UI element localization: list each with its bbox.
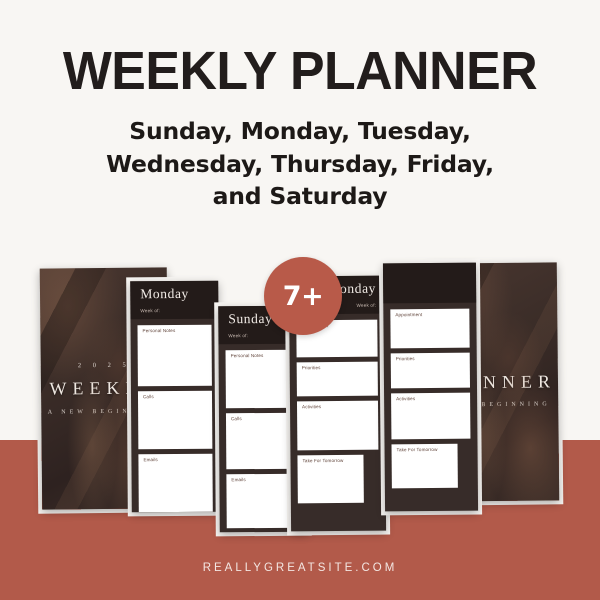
page-body-monday-2: Appointment Priorities Activities Take F…	[289, 313, 386, 510]
field-label: Priorities	[302, 365, 373, 370]
field-label: Personal Notes	[231, 353, 295, 358]
field-activities[interactable]: Activities	[297, 400, 378, 450]
poster-canvas: WEEKLY PLANNER Sunday, Monday, Tuesday, …	[0, 0, 600, 600]
field-personal-notes[interactable]: Personal Notes	[137, 324, 211, 386]
field-label: Personal Notes	[143, 328, 207, 333]
field-label: Calls	[231, 416, 295, 421]
field-emails[interactable]: Emails	[138, 453, 212, 512]
page-body-monday-1: Personal Notes Calls Emails	[130, 318, 219, 512]
mockup-card-right-tasks[interactable]: Appointment Priorities Activities Take F…	[383, 263, 478, 512]
field-label: Activities	[396, 397, 465, 402]
field-label: Emails	[143, 457, 207, 462]
field-priorities[interactable]: Priorities	[297, 361, 378, 396]
page-weekof-label: Week of:	[228, 332, 298, 337]
planner-mockups: 2 0 2 5 WEEKLY A NEW BEGINNING Monday We…	[0, 0, 600, 600]
cover-year-left: 2 0 2 5	[78, 362, 131, 370]
page-header-monday-1: Monday Week of:	[130, 281, 218, 319]
footer-website: REALLYGREATSITE.COM	[0, 562, 600, 574]
page-day-label: Monday	[140, 287, 210, 301]
field-emails[interactable]: Emails	[226, 473, 300, 528]
field-label: Take For Tomorrow	[302, 458, 358, 463]
field-label: Priorities	[396, 357, 465, 362]
field-priorities[interactable]: Priorities	[391, 353, 470, 389]
field-label: Activities	[302, 404, 373, 409]
page-day-label	[393, 269, 468, 270]
field-take-for-tomorrow[interactable]: Take For Tomorrow	[297, 454, 364, 503]
field-take-for-tomorrow[interactable]: Take For Tomorrow	[391, 444, 458, 489]
page-weekof-label	[393, 276, 468, 277]
page-header-right-tasks	[383, 263, 476, 304]
field-label: Take For Tomorrow	[397, 448, 453, 453]
field-calls[interactable]: Calls	[138, 390, 212, 449]
field-label: Appointment	[395, 313, 464, 318]
count-badge[interactable]: 7+	[264, 257, 342, 335]
field-activities[interactable]: Activities	[391, 393, 470, 440]
field-label: Emails	[231, 477, 295, 482]
field-appointment[interactable]: Appointment	[390, 309, 469, 349]
mockup-card-monday-1[interactable]: Monday Week of: Personal Notes Calls Ema…	[130, 281, 220, 513]
field-label: Calls	[143, 394, 207, 399]
page-weekof-label: Week of:	[140, 307, 210, 312]
page-body-right-tasks: Appointment Priorities Activities Take F…	[383, 303, 478, 496]
